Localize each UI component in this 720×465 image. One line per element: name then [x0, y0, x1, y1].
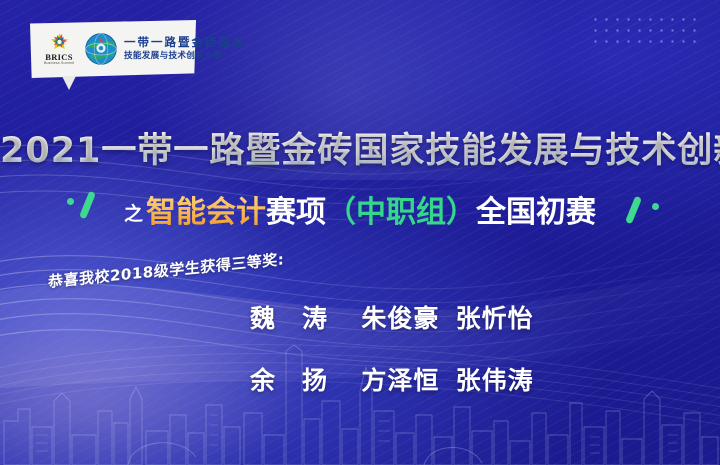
brics-wordmark: BRICS: [45, 53, 72, 62]
subtitle-group: （中职组）: [326, 195, 476, 230]
subtitle-line: 之智能会计赛项（中职组）全国初赛: [0, 196, 720, 229]
green-slash-dot-left-icon: [67, 198, 74, 205]
brics-logo: BRICS Business Summit: [39, 32, 79, 66]
winner-name-list: 魏 涛 朱俊豪 张忻怡 余 扬 方泽恒 张伟涛: [250, 286, 550, 410]
winner-name: 方泽恒: [361, 361, 455, 397]
winner-name: 朱俊豪: [361, 299, 455, 335]
winner-name: 张伟涛: [456, 361, 550, 397]
event-badge: BRICS Business Summit 一带一路暨金砖国家 技能发展与技术创…: [30, 20, 196, 78]
brics-pentagon-icon: [49, 32, 70, 52]
globe-icon: [84, 32, 118, 66]
winner-name: 魏 涛: [250, 299, 361, 335]
green-slash-dot-right-icon: [652, 203, 659, 210]
main-title: 2021一带一路暨金砖国家技能发展与技术创新大赛: [0, 122, 720, 173]
brics-subtitle: Business Summit: [44, 62, 74, 66]
winner-name-row: 余 扬 方泽恒 张伟涛: [250, 348, 550, 410]
dot-grid-decoration: [590, 14, 702, 48]
subtitle-event-suffix: 赛项: [266, 195, 326, 230]
poster-canvas: BRICS Business Summit 一带一路暨金砖国家 技能发展与技术创…: [0, 0, 720, 465]
winner-name: 余 扬: [250, 361, 361, 397]
winner-name: 张忻怡: [456, 299, 550, 335]
subtitle-prefix: 之: [124, 203, 143, 225]
subtitle-event-name: 智能会计: [146, 195, 266, 230]
badge-title-line1: 一带一路暨金砖国家: [124, 38, 246, 50]
badge-tail-pointer: [62, 76, 76, 90]
winner-name-row: 魏 涛 朱俊豪 张忻怡: [250, 286, 550, 348]
badge-title-line2: 技能发展与技术创新大赛: [124, 51, 246, 60]
subtitle-stage: 全国初赛: [476, 195, 596, 230]
